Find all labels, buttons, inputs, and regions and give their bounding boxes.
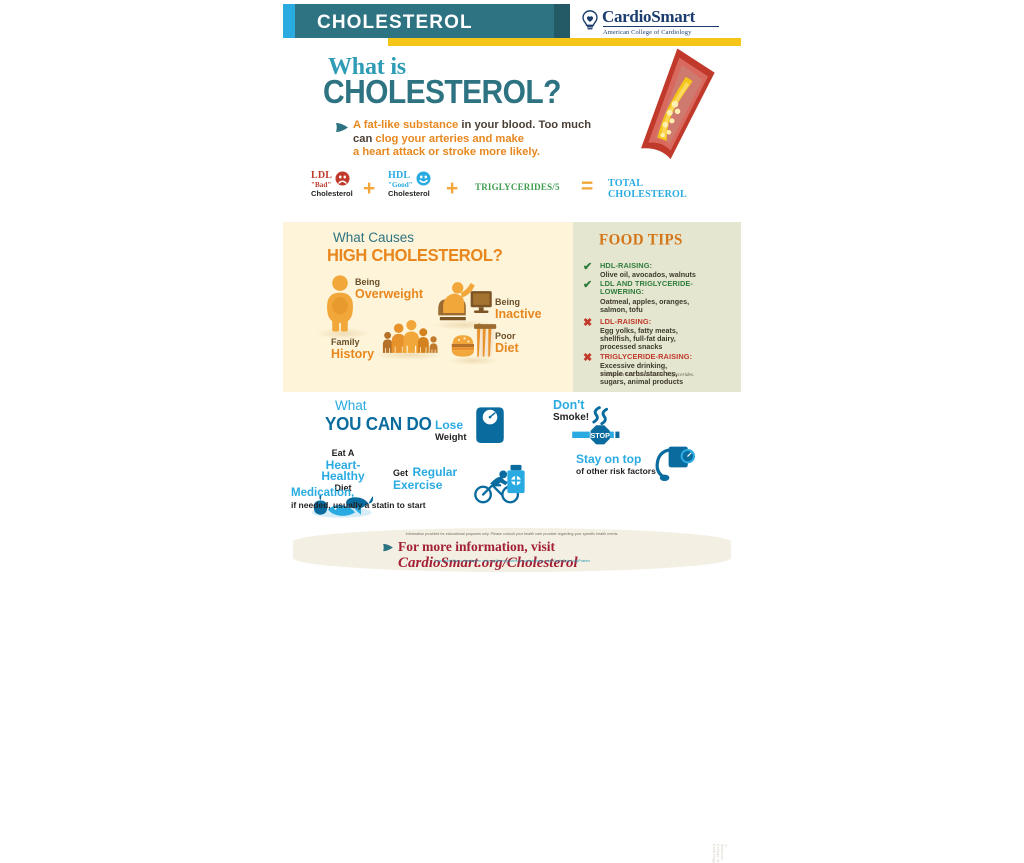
cholesterol-equation: LDL "Bad" Cholesterol + HDL "Good" Chole… xyxy=(283,168,741,210)
ldl-suffix: Cholesterol xyxy=(311,189,353,198)
header-blue-accent xyxy=(283,4,295,38)
total-cholesterol-label: TOTAL CHOLESTEROL xyxy=(608,178,687,200)
desc-part-2: in your blood. Too much xyxy=(458,119,591,131)
triglycerides-label: TRIGLYCERIDES/5 xyxy=(475,182,560,192)
check-icon: ✔ xyxy=(583,262,592,272)
causes-label-inactive: Being Inactive xyxy=(495,296,542,320)
footer-arrow-icon xyxy=(382,543,394,552)
footer-posters-link[interactable]: CardioSmart.org/Posters xyxy=(553,559,590,563)
diet-line2: Diet xyxy=(495,342,519,354)
bullet-arrow-icon xyxy=(335,122,349,133)
causes-label-diet: Poor Diet xyxy=(495,330,519,354)
causes-and-tips-band: What Causes HIGH CHOLESTEROL? Being Over… xyxy=(283,222,741,392)
copyright-credit: © American College of Cardiology xyxy=(712,844,728,863)
no-smoking-stop-icon: STOP xyxy=(561,404,625,448)
cross-icon: ✖ xyxy=(583,318,592,328)
diet-line3: Healthy xyxy=(313,471,373,483)
couch-potato-tv-icon xyxy=(435,276,495,324)
plus-operator-2: + xyxy=(446,178,458,199)
food-tips-footnote: What raises LDL can also raise Triglycer… xyxy=(600,372,694,378)
ycd-label-weight: Lose Weight xyxy=(435,420,467,443)
risk-line1: Stay on top xyxy=(576,454,656,466)
page-title: CHOLESTEROL xyxy=(317,12,473,34)
happy-face-icon xyxy=(416,171,431,186)
weight-line2: Weight xyxy=(435,432,467,444)
pill-bottle-icon xyxy=(505,464,527,494)
header-yellow-bar xyxy=(388,38,741,46)
overweight-person-icon xyxy=(321,274,359,332)
overweight-line2: Overweight xyxy=(355,288,423,300)
desc-part-3: can xyxy=(353,133,375,145)
what-is-description: A fat-like substance in your blood. Too … xyxy=(353,119,613,160)
blood-pressure-cuff-icon xyxy=(651,440,699,482)
plus-operator-1: + xyxy=(363,178,375,199)
footer-cta[interactable]: For more information, visit CardioSmart.… xyxy=(398,539,731,572)
total-line1: TOTAL xyxy=(608,178,643,189)
lightbulb-heart-icon xyxy=(581,10,599,30)
cholesterol-infographic: CHOLESTEROL CardioSmart American College… xyxy=(283,0,741,576)
footer-cta-prefix: For more information, visit xyxy=(398,539,555,554)
ycd-title-big: YOU CAN DO xyxy=(325,414,432,436)
poster-canvas: CHOLESTEROL CardioSmart American College… xyxy=(0,0,1024,576)
food-tips-panel: FOOD TIPS ✔ HDL-RAISING: Olive oil, avoc… xyxy=(573,222,741,392)
burger-soda-icon xyxy=(451,320,497,360)
ldl-tg-lowering-body-2: salmon, tofu xyxy=(600,306,643,314)
family-line2: History xyxy=(331,348,374,360)
ycd-title-small: What xyxy=(335,398,367,413)
causes-label-family: Family History xyxy=(331,336,374,360)
equals-operator: = xyxy=(581,176,593,197)
desc-part-5: a heart attack or stroke more likely. xyxy=(353,146,540,158)
footer-disclaimer-bottom: If you would like to download or order a… xyxy=(293,559,731,563)
desc-part-4: clog your arteries and make xyxy=(375,133,524,145)
exercise-line1: Get xyxy=(393,468,408,478)
desc-part-1: A fat-like substance xyxy=(353,119,458,131)
header-teal-shadow xyxy=(554,4,570,38)
causes-label-overweight: Being Overweight xyxy=(355,276,423,300)
cross-icon: ✖ xyxy=(583,353,592,363)
tg-raising-body-3: sugars, animal products xyxy=(600,378,683,386)
total-line2: CHOLESTEROL xyxy=(608,189,687,200)
sad-face-icon xyxy=(335,171,350,186)
ycd-label-risk: Stay on top of other risk factors xyxy=(576,454,656,477)
svg-text:STOP: STOP xyxy=(590,431,610,440)
footer-disclaimer-bottom-text: If you would like to download or order a… xyxy=(434,559,553,563)
clogged-artery-illustration xyxy=(618,48,736,166)
ycd-label-medication: Medication, if needed, usually a statin … xyxy=(291,488,426,511)
medication-line2: if needed, usually a statin to start xyxy=(291,500,426,512)
what-is-line2: CHOLESTEROL? xyxy=(323,74,561,112)
cardiosmart-logo: CardioSmart American College of Cardiolo… xyxy=(581,7,731,37)
logo-wordmark: CardioSmart xyxy=(602,7,695,27)
hdl-suffix: Cholesterol xyxy=(388,189,430,198)
ldl-raising-body-3: processed snacks xyxy=(600,343,662,351)
what-you-can-do-section: What YOU CAN DO Eat A Heart- Healthy Die… xyxy=(283,392,741,532)
check-icon: ✔ xyxy=(583,280,592,290)
causes-title-big: HIGH CHOLESTEROL? xyxy=(327,246,502,267)
footer-disclaimer-top: Information provided for educational pur… xyxy=(293,532,731,536)
medication-line1: Medication, xyxy=(291,488,426,500)
food-tips-title: FOOD TIPS xyxy=(599,232,683,250)
ldl-tg-lowering-heading: LDL AND TRIGLYCERIDE- LOWERING: xyxy=(600,280,693,297)
what-is-cholesterol-section: What is CHOLESTEROL? A fat-like substanc… xyxy=(283,50,741,170)
weight-line1: Lose xyxy=(435,420,467,432)
family-group-icon xyxy=(378,318,440,356)
poster-header: CHOLESTEROL CardioSmart American College… xyxy=(283,4,741,38)
causes-panel: What Causes HIGH CHOLESTEROL? Being Over… xyxy=(283,222,573,392)
risk-line2: of other risk factors xyxy=(576,466,656,478)
poster-footer: Information provided for educational pur… xyxy=(293,528,731,572)
logo-tagline: American College of Cardiology xyxy=(603,26,719,36)
inactive-line2: Inactive xyxy=(495,308,542,320)
exercise-line2: Regular xyxy=(412,465,457,479)
footer-cta-url[interactable]: CardioSmart.org/Cholesterol xyxy=(398,555,578,571)
causes-title-small: What Causes xyxy=(333,230,414,245)
scale-icon xyxy=(473,404,507,448)
